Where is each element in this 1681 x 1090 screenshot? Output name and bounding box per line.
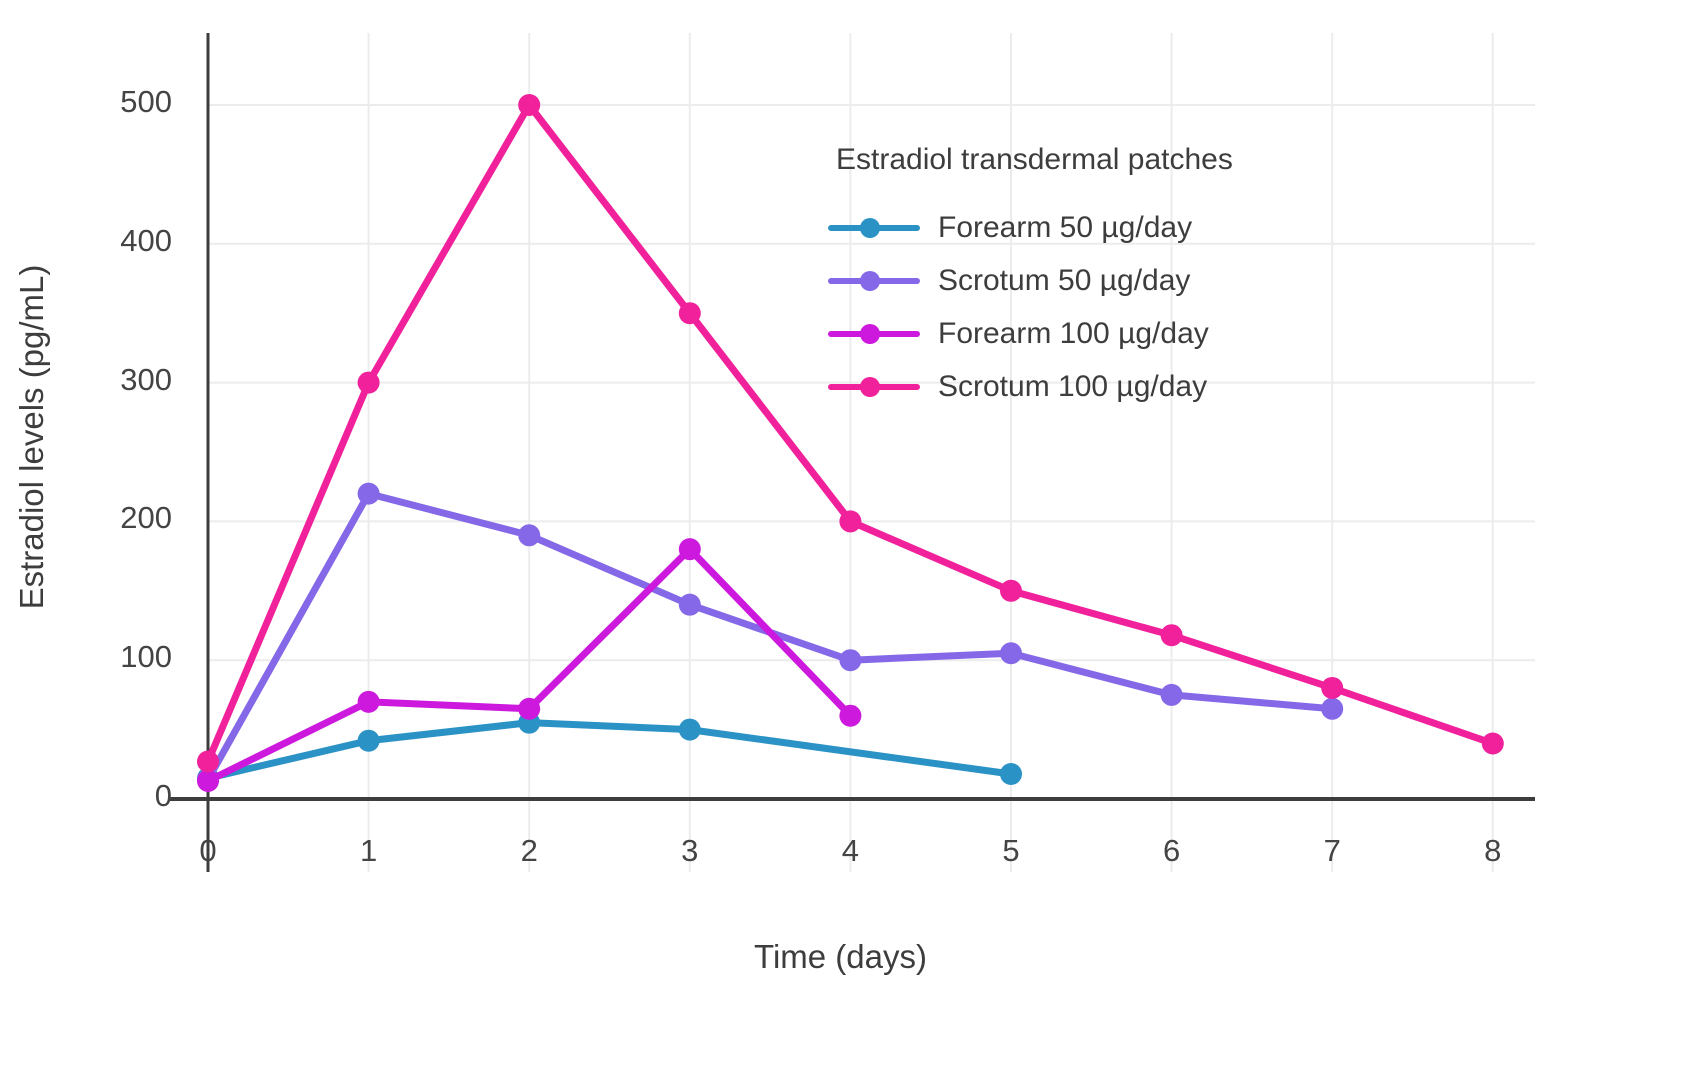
x-tick-label: 4 bbox=[810, 833, 890, 869]
x-tick-label: 3 bbox=[650, 833, 730, 869]
legend-swatch-icon bbox=[828, 269, 920, 293]
data-point-marker[interactable] bbox=[197, 751, 219, 773]
data-point-marker[interactable] bbox=[358, 730, 380, 752]
data-point-marker[interactable] bbox=[1000, 580, 1022, 602]
legend-item[interactable]: Forearm 100 µg/day bbox=[828, 307, 1368, 360]
legend-marker-icon bbox=[860, 218, 880, 238]
x-tick-label: 8 bbox=[1453, 833, 1533, 869]
estradiol-line-chart: 0100200300400500 012345678 Time (days) E… bbox=[0, 0, 1681, 1090]
legend-item[interactable]: Forearm 50 µg/day bbox=[828, 201, 1368, 254]
data-point-marker[interactable] bbox=[1000, 642, 1022, 664]
legend-item-label: Forearm 100 µg/day bbox=[938, 317, 1209, 351]
y-tick-label: 500 bbox=[62, 84, 172, 120]
legend-item[interactable]: Scrotum 100 µg/day bbox=[828, 360, 1368, 413]
data-point-marker[interactable] bbox=[358, 483, 380, 505]
legend-swatch-icon bbox=[828, 322, 920, 346]
legend-marker-icon bbox=[860, 324, 880, 344]
data-point-marker[interactable] bbox=[1000, 763, 1022, 785]
legend-swatch-icon bbox=[828, 216, 920, 240]
data-point-marker[interactable] bbox=[839, 649, 861, 671]
data-point-marker[interactable] bbox=[518, 698, 540, 720]
data-point-marker[interactable] bbox=[1482, 732, 1504, 754]
data-point-marker[interactable] bbox=[358, 691, 380, 713]
legend-swatch-icon bbox=[828, 375, 920, 399]
x-tick-label: 7 bbox=[1292, 833, 1372, 869]
x-tick-label: 0 bbox=[168, 833, 248, 869]
legend-item-label: Scrotum 100 µg/day bbox=[938, 370, 1207, 404]
data-point-marker[interactable] bbox=[1161, 684, 1183, 706]
data-point-marker[interactable] bbox=[518, 524, 540, 546]
x-axis-title: Time (days) bbox=[0, 938, 1681, 976]
y-tick-label: 400 bbox=[62, 223, 172, 259]
y-tick-label: 300 bbox=[62, 362, 172, 398]
data-point-marker[interactable] bbox=[679, 719, 701, 741]
legend-item-label: Scrotum 50 µg/day bbox=[938, 264, 1190, 298]
data-point-marker[interactable] bbox=[839, 510, 861, 532]
y-tick-label: 200 bbox=[62, 500, 172, 536]
legend-rows: Forearm 50 µg/dayScrotum 50 µg/dayForear… bbox=[828, 201, 1368, 413]
y-tick-label: 0 bbox=[62, 778, 172, 814]
data-point-marker[interactable] bbox=[679, 538, 701, 560]
legend-marker-icon bbox=[860, 271, 880, 291]
x-tick-label: 2 bbox=[489, 833, 569, 869]
data-point-marker[interactable] bbox=[1321, 698, 1343, 720]
chart-legend: Estradiol transdermal patches Forearm 50… bbox=[828, 143, 1368, 413]
y-axis-title: Estradiol levels (pg/mL) bbox=[13, 137, 51, 737]
legend-title: Estradiol transdermal patches bbox=[828, 143, 1368, 177]
x-tick-label: 6 bbox=[1132, 833, 1212, 869]
data-point-marker[interactable] bbox=[518, 94, 540, 116]
data-point-marker[interactable] bbox=[1161, 624, 1183, 646]
data-point-marker[interactable] bbox=[839, 705, 861, 727]
legend-item[interactable]: Scrotum 50 µg/day bbox=[828, 254, 1368, 307]
data-point-marker[interactable] bbox=[358, 372, 380, 394]
legend-item-label: Forearm 50 µg/day bbox=[938, 211, 1192, 245]
data-point-marker[interactable] bbox=[679, 302, 701, 324]
legend-marker-icon bbox=[860, 377, 880, 397]
data-point-marker[interactable] bbox=[197, 770, 219, 792]
x-tick-label: 5 bbox=[971, 833, 1051, 869]
series-line bbox=[208, 723, 1011, 779]
y-tick-label: 100 bbox=[62, 639, 172, 675]
x-tick-label: 1 bbox=[329, 833, 409, 869]
data-point-marker[interactable] bbox=[679, 594, 701, 616]
data-point-marker[interactable] bbox=[1321, 677, 1343, 699]
